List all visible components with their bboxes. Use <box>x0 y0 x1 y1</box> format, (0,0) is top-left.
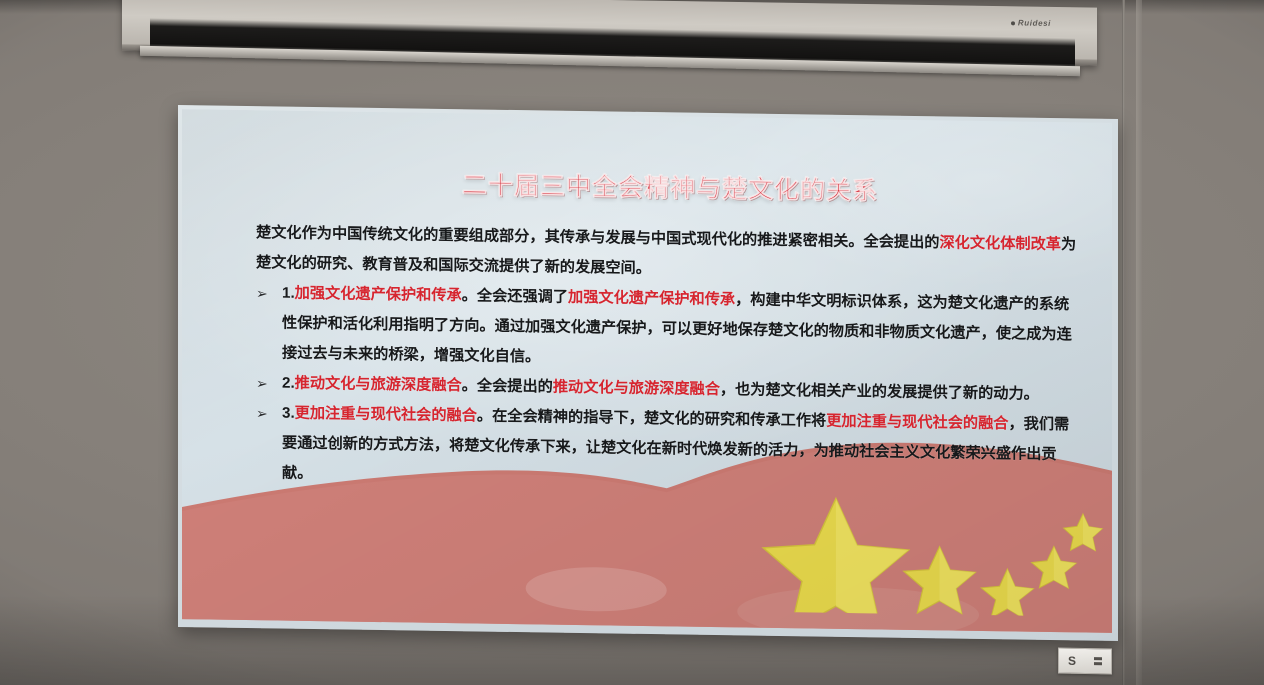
classroom-photo-scene: Ruidesi <box>0 0 1264 685</box>
bullet-3-highlight: 更加注重与现代社会的融合 <box>826 413 1008 433</box>
bullet-2-highlight: 推动文化与旅游深度融合 <box>553 379 720 398</box>
slide-title: 二十届三中全会精神与楚文化的关系 <box>256 162 1084 210</box>
bullet-2-heading: 推动文化与旅游深度融合 <box>295 375 462 394</box>
star-small-c <box>1064 514 1103 551</box>
wall-seam-secondary <box>1136 0 1142 685</box>
bullet-item-1: ➢1.加强文化遗产保护和传承。全会还强调了加强文化遗产保护和传承，构建中华文明标… <box>256 278 1084 380</box>
star-small-b <box>1032 546 1077 588</box>
bullet-3-heading: 更加注重与现代社会的融合 <box>295 405 477 425</box>
bullet-3-number: 3. <box>282 405 295 422</box>
projected-slide: 二十届三中全会精神与楚文化的关系 楚文化作为中国传统文化的重要组成部分，其传承与… <box>182 109 1112 633</box>
bullet-1-text-a: 。全会还强调了 <box>462 287 568 306</box>
slide-content: 二十届三中全会精神与楚文化的关系 楚文化作为中国传统文化的重要组成部分，其传承与… <box>182 109 1112 501</box>
intro-part1: 楚文化作为中国传统文化的重要组成部分，其传承与发展与中国式现代化的推进紧密相关。… <box>256 224 939 251</box>
sticker-bars-icon <box>1094 657 1102 665</box>
bullet-item-3: ➢3.更加注重与现代社会的融合。在全会精神的指导下，楚文化的研究和传承工作将更加… <box>256 398 1084 500</box>
bullet-2-text-a: 。全会提出的 <box>462 377 553 395</box>
bullet-1-heading: 加强文化遗产保护和传承 <box>295 285 462 304</box>
bullet-1-number: 1. <box>282 285 295 302</box>
slide-body: 楚文化作为中国传统文化的重要组成部分，其传承与发展与中国式现代化的推进紧密相关。… <box>256 218 1084 500</box>
star-small-a <box>981 569 1033 617</box>
star-medium <box>904 546 976 614</box>
bullet-3-text-a: 。在全会精神的指导下，楚文化的研究和传承工作将 <box>477 407 826 429</box>
housing-brand-text: Ruidesi <box>1018 18 1051 28</box>
wall-seam <box>1122 0 1125 685</box>
bullet-1-highlight: 加强文化遗产保护和传承 <box>568 289 735 308</box>
intro-highlight: 深化文化体制改革 <box>939 234 1061 253</box>
bullet-arrow-icon: ➢ <box>256 278 268 308</box>
bullet-arrow-icon: ➢ <box>256 368 268 398</box>
sticker-mark: S <box>1068 655 1076 667</box>
bullet-arrow-icon: ➢ <box>256 398 268 428</box>
bullet-2-number: 2. <box>282 375 295 392</box>
wall-sticker-label: S <box>1058 648 1112 675</box>
logo-dot-icon <box>1011 21 1015 25</box>
star-large <box>763 497 908 616</box>
bullet-2-text-b: ，也为楚文化相关产业的发展提供了新的动力。 <box>720 381 1039 403</box>
housing-brand-logo: Ruidesi <box>1011 18 1051 28</box>
